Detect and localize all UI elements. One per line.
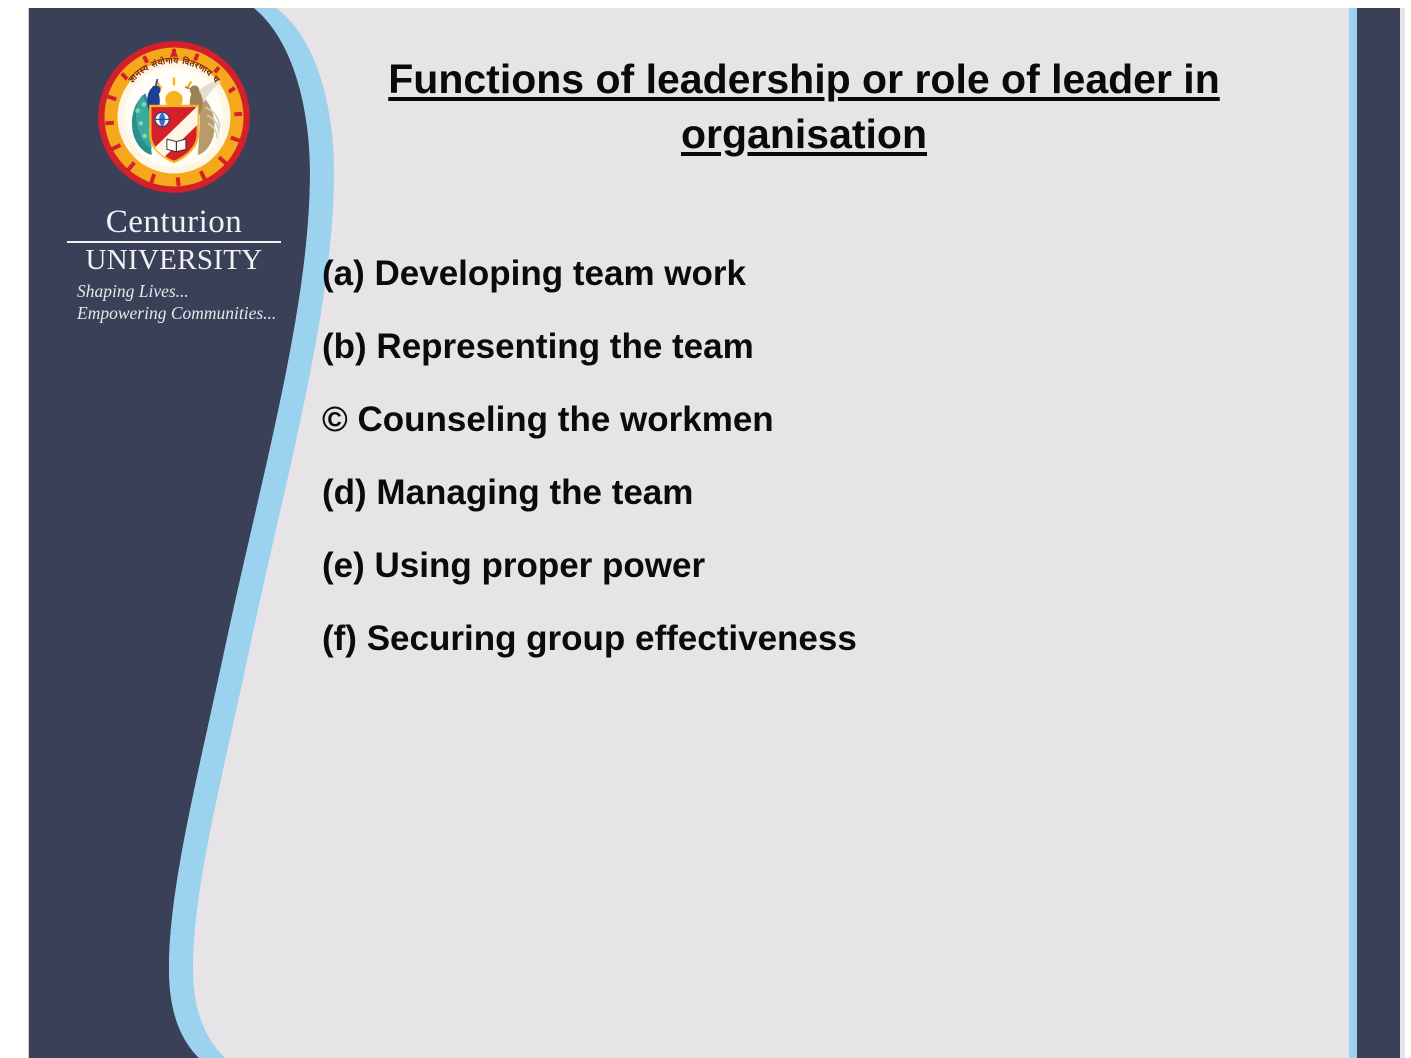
list-item: (b) Representing the team <box>322 329 1302 364</box>
crest-globe-icon <box>155 112 169 126</box>
right-accent-stripe <box>1349 8 1357 1058</box>
slide-title-line-1: Functions of leadership or role of leade… <box>388 56 1220 102</box>
list-item: (d) Managing the team <box>322 475 1302 510</box>
slide-canvas: ज्ञानस्य संयोगाय वितरणाय च CONNECTING TH… <box>28 8 1405 1058</box>
list-item: (f) Securing group effectiveness <box>322 621 1302 656</box>
crest-book-icon <box>167 139 186 152</box>
list-item: (a) Developing team work <box>322 256 1302 291</box>
brand-tagline-2: Empowering Communities... <box>77 303 289 325</box>
brand-tagline-1: Shaping Lives... <box>77 281 289 303</box>
list-item: © Counseling the workmen <box>322 402 1302 437</box>
brand-name-sub: UNIVERSITY <box>59 245 289 275</box>
slide-title: Functions of leadership or role of leade… <box>294 52 1314 161</box>
brand-block: ज्ञानस्य संयोगाय वितरणाय च CONNECTING TH… <box>59 38 289 325</box>
slide-title-line-2: organisation <box>681 111 927 157</box>
university-crest-icon: ज्ञानस्य संयोगाय वितरणाय च CONNECTING TH… <box>95 38 253 196</box>
brand-name-main: Centurion <box>67 206 281 243</box>
right-navy-bar <box>1357 8 1400 1058</box>
list-item: (e) Using proper power <box>322 548 1302 583</box>
presentation-slide: ज्ञानस्य संयोगाय वितरणाय च CONNECTING TH… <box>0 0 1411 1058</box>
bullet-list: (a) Developing team work (b) Representin… <box>322 256 1302 694</box>
